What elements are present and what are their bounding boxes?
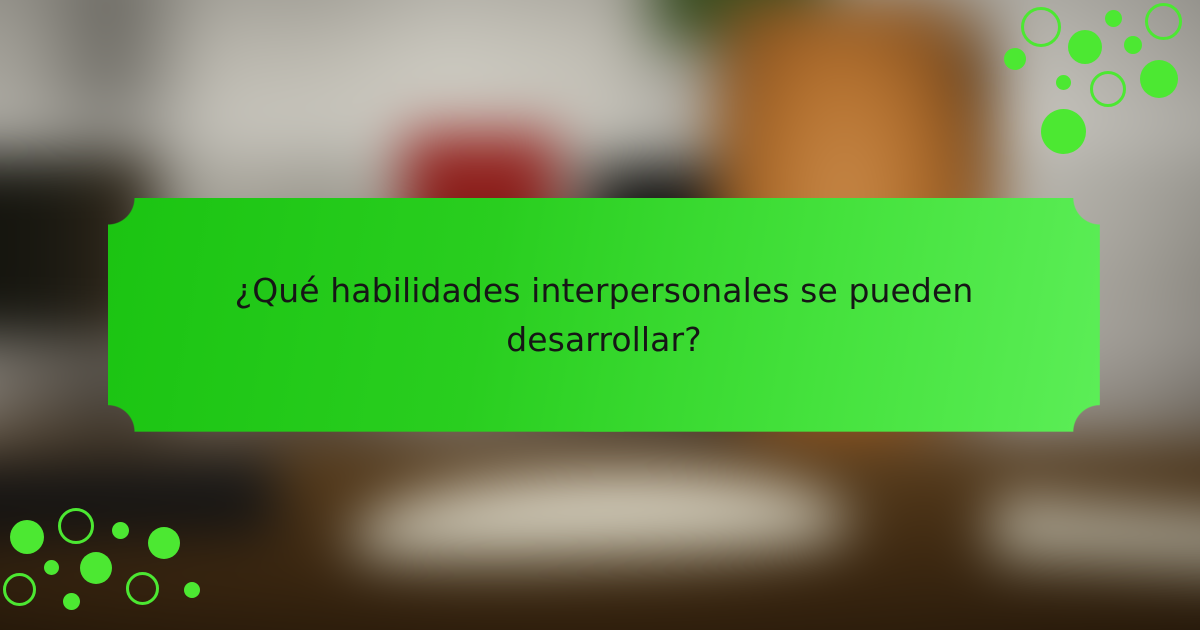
social-card-poster: ¿Qué habilidades interpersonales se pued… xyxy=(0,0,1200,630)
quote-headline: ¿Qué habilidades interpersonales se pued… xyxy=(209,266,999,365)
quote-card: ¿Qué habilidades interpersonales se pued… xyxy=(108,198,1100,432)
